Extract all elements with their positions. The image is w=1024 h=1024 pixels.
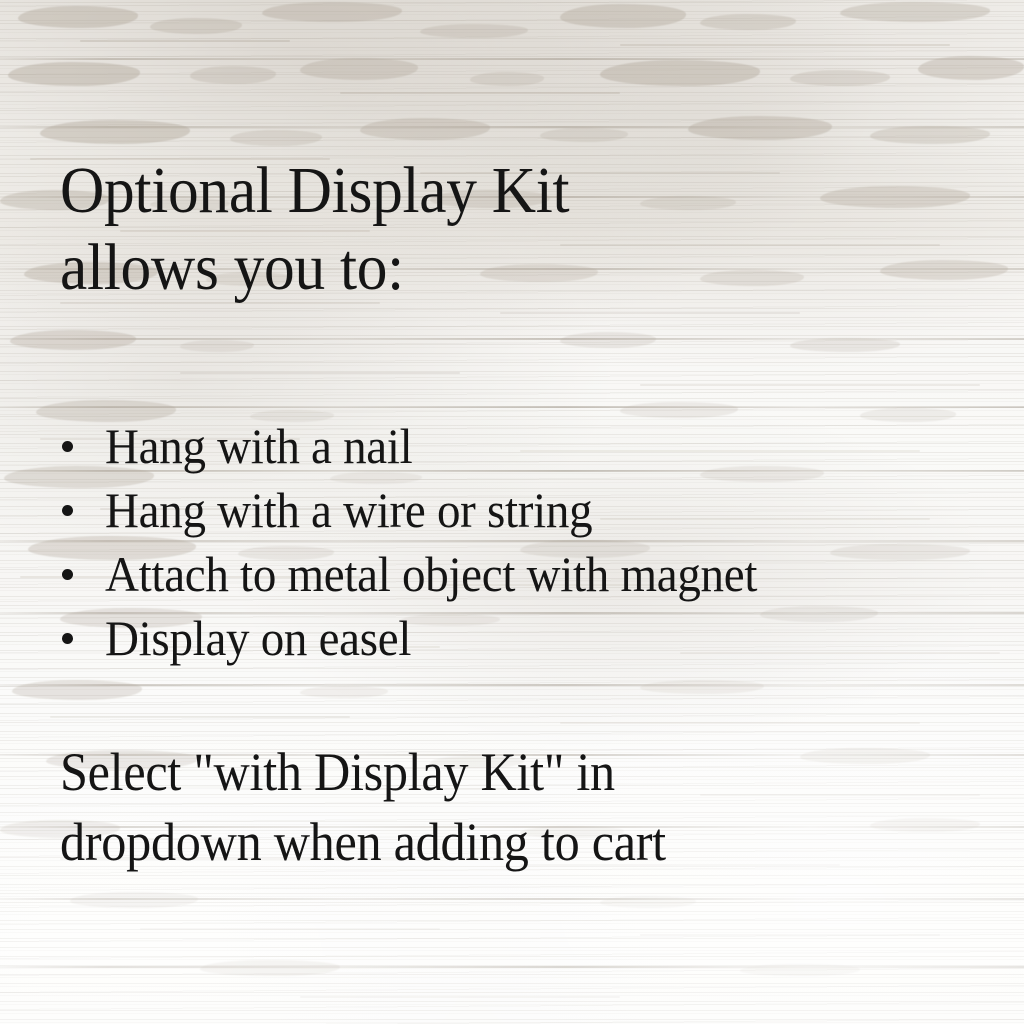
list-item-label: Display on easel	[105, 606, 411, 670]
list-item-label: Hang with a nail	[105, 414, 412, 478]
list-item-label: Hang with a wire or string	[105, 478, 592, 542]
product-info-graphic: Optional Display Kit allows you to: Hang…	[0, 0, 1024, 1024]
list-item-label: Attach to metal object with magnet	[105, 542, 757, 606]
page-title-line-1: Optional Display Kit	[60, 152, 569, 229]
bullet-dot-icon	[62, 505, 73, 516]
closing-instruction: Select "with Display Kit" in dropdown wh…	[60, 737, 666, 877]
page-title: Optional Display Kit allows you to:	[60, 152, 569, 306]
list-item: Hang with a wire or string	[60, 478, 799, 542]
bullet-dot-icon	[62, 569, 73, 580]
bullet-dot-icon	[62, 633, 73, 644]
page-title-line-2: allows you to:	[60, 229, 569, 306]
graphic-text-content: Optional Display Kit allows you to: Hang…	[0, 0, 1024, 1024]
list-item: Hang with a nail	[60, 414, 799, 478]
feature-bullet-list: Hang with a nail Hang with a wire or str…	[60, 414, 799, 670]
bullet-dot-icon	[62, 441, 73, 452]
closing-instruction-line-2: dropdown when adding to cart	[60, 807, 666, 877]
list-item: Display on easel	[60, 606, 799, 670]
closing-instruction-line-1: Select "with Display Kit" in	[60, 737, 666, 807]
list-item: Attach to metal object with magnet	[60, 542, 799, 606]
